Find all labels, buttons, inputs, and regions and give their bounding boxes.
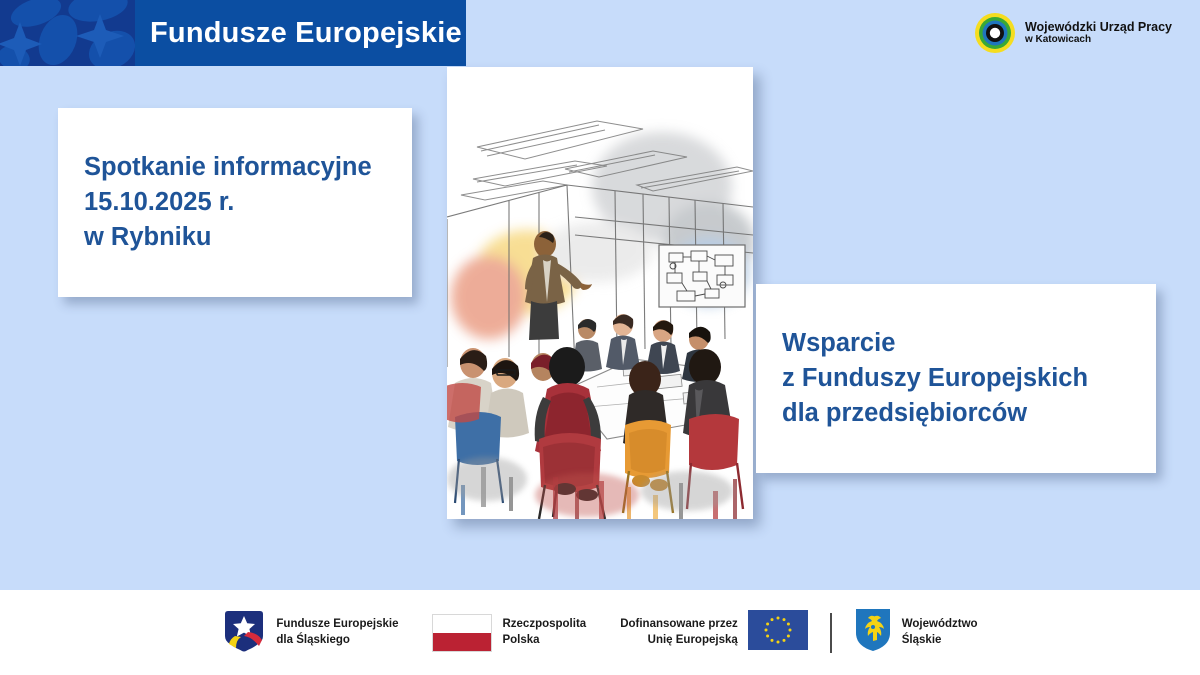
wup-concentric-rings-logo-icon [974,12,1016,54]
eu-flag-icon [748,610,808,655]
poster-canvas: Fundusze Europejskie Wojewódzki Urząd Pr… [0,0,1200,675]
footer-logo-line2: Polska [502,633,586,649]
topic-card: Wsparcie z Funduszy Europejskich dla prz… [756,284,1156,473]
eu-stars-pattern-icon [0,0,135,66]
footer-logo-text: Dofinansowane przez Unię Europejską [620,617,738,648]
silesian-eagle-shield-icon [854,607,892,658]
meeting-room-illustration [447,67,753,519]
footer-logo-wojewodztwo-slaskie: Województwo Śląskie [854,607,978,658]
event-details-card: Spotkanie informacyjne 15.10.2025 r. w R… [58,108,412,297]
footer-divider [830,613,832,653]
footer-logo-line2: dla Śląskiego [276,633,398,649]
footer-logo-bar: Fundusze Europejskie dla Śląskiego Rzecz… [0,590,1200,675]
footer-logo-line2: Unię Europejską [620,633,738,649]
footer-logo-text: Województwo Śląskie [902,617,978,648]
topic-line-1: Wsparcie [782,326,1130,361]
institution-logo: Wojewódzki Urząd Pracy w Katowicach [974,12,1172,54]
topic-line-2: z Funduszy Europejskich [782,361,1130,396]
footer-logo-rzeczpospolita-polska: Rzeczpospolita Polska [432,614,586,652]
footer-logo-line1: Województwo [902,617,978,633]
footer-logo-line1: Dofinansowane przez [620,617,738,633]
footer-logo-line1: Rzeczpospolita [502,617,586,633]
poland-flag-icon [432,614,492,652]
footer-logo-line2: Śląskie [902,633,978,649]
institution-name-line2: w Katowicach [1025,34,1172,46]
event-date-line: 15.10.2025 r. [84,185,386,220]
footer-logo-line1: Fundusze Europejskie [276,617,398,633]
fundusze-europejskie-flag-star-icon [222,608,266,657]
event-location-line: w Rybniku [84,220,386,255]
banner-title: Fundusze Europejskie [150,17,462,50]
topic-line-3: dla przedsiębiorców [782,396,1130,431]
footer-logo-text: Fundusze Europejskie dla Śląskiego [276,617,398,648]
fundusze-europejskie-banner: Fundusze Europejskie [0,0,466,66]
footer-logo-text: Rzeczpospolita Polska [502,617,586,648]
footer-logo-fundusze-europejskie: Fundusze Europejskie dla Śląskiego [222,608,398,657]
event-title-line: Spotkanie informacyjne [84,150,386,185]
institution-name-line1: Wojewódzki Urząd Pracy [1025,20,1172,34]
footer-logo-eu-cofinancing: Dofinansowane przez Unię Europejską [620,610,808,655]
